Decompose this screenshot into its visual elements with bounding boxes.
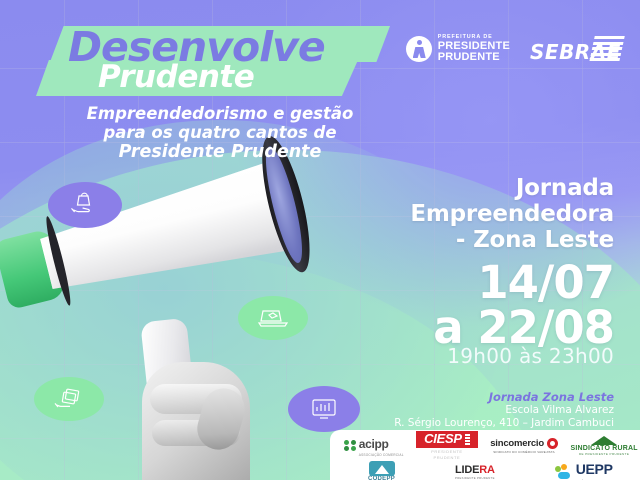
venue-title: Jornada Zona Leste — [294, 390, 614, 404]
sindicato-sub: DE PRESIDENTE PRUDENTE — [579, 452, 629, 456]
partner-logo-lidera: LIDERA PRESIDENTE PRUDENTE — [455, 464, 495, 480]
partner-logo-acipp: acipp ASSOCIAÇÃO COMERCIAL — [344, 435, 403, 457]
event-headline: Jornada Empreendedora - Zona Leste — [314, 176, 614, 253]
prefeitura-logo: PREFEITURA DE PRESIDENTE PRUDENTE — [406, 35, 510, 63]
person-mark-icon — [406, 36, 432, 62]
subtitle-line-2: para os quatro cantos de — [0, 123, 440, 142]
ciesp-bars-icon — [465, 434, 470, 445]
brand-logo: Desenvolve Prudente — [26, 26, 396, 94]
subtitle-line-3: Presidente Prudente — [0, 142, 440, 162]
lidera-label: LIDERA — [455, 464, 495, 476]
institution-logos: PREFEITURA DE PRESIDENTE PRUDENTE SEBRAE — [406, 34, 622, 64]
partner-logo-uepp: UEPP UNIÃO DAS ENTIDADES — [555, 461, 614, 480]
hand-shopping-bag-icon — [68, 192, 102, 218]
partner-logos-panel: acipp ASSOCIAÇÃO COMERCIAL CIESP PRESIDE… — [330, 430, 640, 480]
uepp-text: UEPP UNIÃO DAS ENTIDADES — [576, 461, 614, 480]
lidera-sub: PRESIDENTE PRUDENTE — [455, 476, 495, 480]
codepp-mark-icon — [369, 461, 395, 476]
event-time: 19h00 às 23h00 — [314, 344, 614, 368]
partner-logo-sincomercio: sincomercio SINDICATO DO COMÉRCIO VAREJI… — [490, 438, 558, 454]
prefeitura-text: PREFEITURA DE PRESIDENTE PRUDENTE — [438, 35, 510, 63]
ciesp-box: CIESP — [416, 431, 478, 447]
date-start: 14/07 — [314, 260, 614, 305]
uepp-mark-icon — [555, 464, 573, 480]
sincomercio-top: sincomercio — [490, 438, 558, 449]
subtitle-line-1: Empreendedorismo e gestão — [0, 104, 440, 123]
sincomercio-dot-icon — [547, 438, 558, 449]
acipp-sub: ASSOCIAÇÃO COMERCIAL — [359, 453, 404, 457]
sindicato-triangle-icon — [591, 436, 617, 445]
venue-address: R. Sérgio Lourenço, 410 – Jardim Cambuci — [294, 417, 614, 430]
codepp-label: CODEPP — [368, 476, 395, 480]
bubble-hand-shopping-bag — [48, 182, 122, 228]
ciesp-sub1: PRESIDENTE — [431, 449, 463, 454]
hand-cards-icon — [53, 387, 85, 411]
acipp-dots-icon — [344, 440, 356, 452]
partner-logo-sindicato-rural: SINDICATO RURAL DE PRESIDENTE PRUDENTE — [570, 436, 637, 456]
sindicato-label: SINDICATO RURAL — [570, 445, 637, 452]
sincomercio-sub: SINDICATO DO COMÉRCIO VAREJISTA — [493, 450, 555, 454]
brand-title-prudente: Prudente — [98, 59, 254, 95]
venue-school: Escola Vilma Alvarez — [294, 404, 614, 417]
partner-row-1: acipp ASSOCIAÇÃO COMERCIAL CIESP PRESIDE… — [338, 434, 640, 458]
bubble-laptop — [238, 296, 308, 340]
headline-line-3: - Zona Leste — [314, 228, 614, 254]
headline-line-1: Jornada — [314, 176, 614, 202]
sincomercio-label: sincomercio — [490, 438, 544, 449]
acipp-label: acipp — [359, 437, 389, 451]
laptop-icon — [256, 306, 290, 330]
uepp-label: UEPP — [576, 461, 613, 477]
headline-line-2: Empreendedora — [314, 202, 614, 228]
partner-logo-ciesp: CIESP PRESIDENTE PRUDENTE — [416, 431, 478, 459]
ciesp-label: CIESP — [424, 432, 462, 446]
venue-block: Jornada Zona Leste Escola Vilma Alvarez … — [294, 390, 614, 430]
event-dates: 14/07 a 22/08 — [314, 260, 614, 350]
sebrae-bars-icon — [589, 36, 625, 62]
partner-logo-codepp: CODEPP — [368, 461, 395, 480]
partner-row-2: CODEPP LIDERA PRESIDENTE PRUDENTE UEPP U… — [338, 460, 640, 480]
bubble-hand-cards — [34, 377, 104, 421]
promo-poster: Desenvolve Prudente PREFEITURA DE PRESID… — [0, 0, 640, 480]
acipp-text: acipp ASSOCIAÇÃO COMERCIAL — [359, 435, 404, 457]
subtitle-block: Empreendedorismo e gestão para os quatro… — [0, 104, 440, 163]
sebrae-logo: SEBRAE — [530, 34, 622, 64]
prefeitura-line2: PRUDENTE — [438, 52, 510, 63]
